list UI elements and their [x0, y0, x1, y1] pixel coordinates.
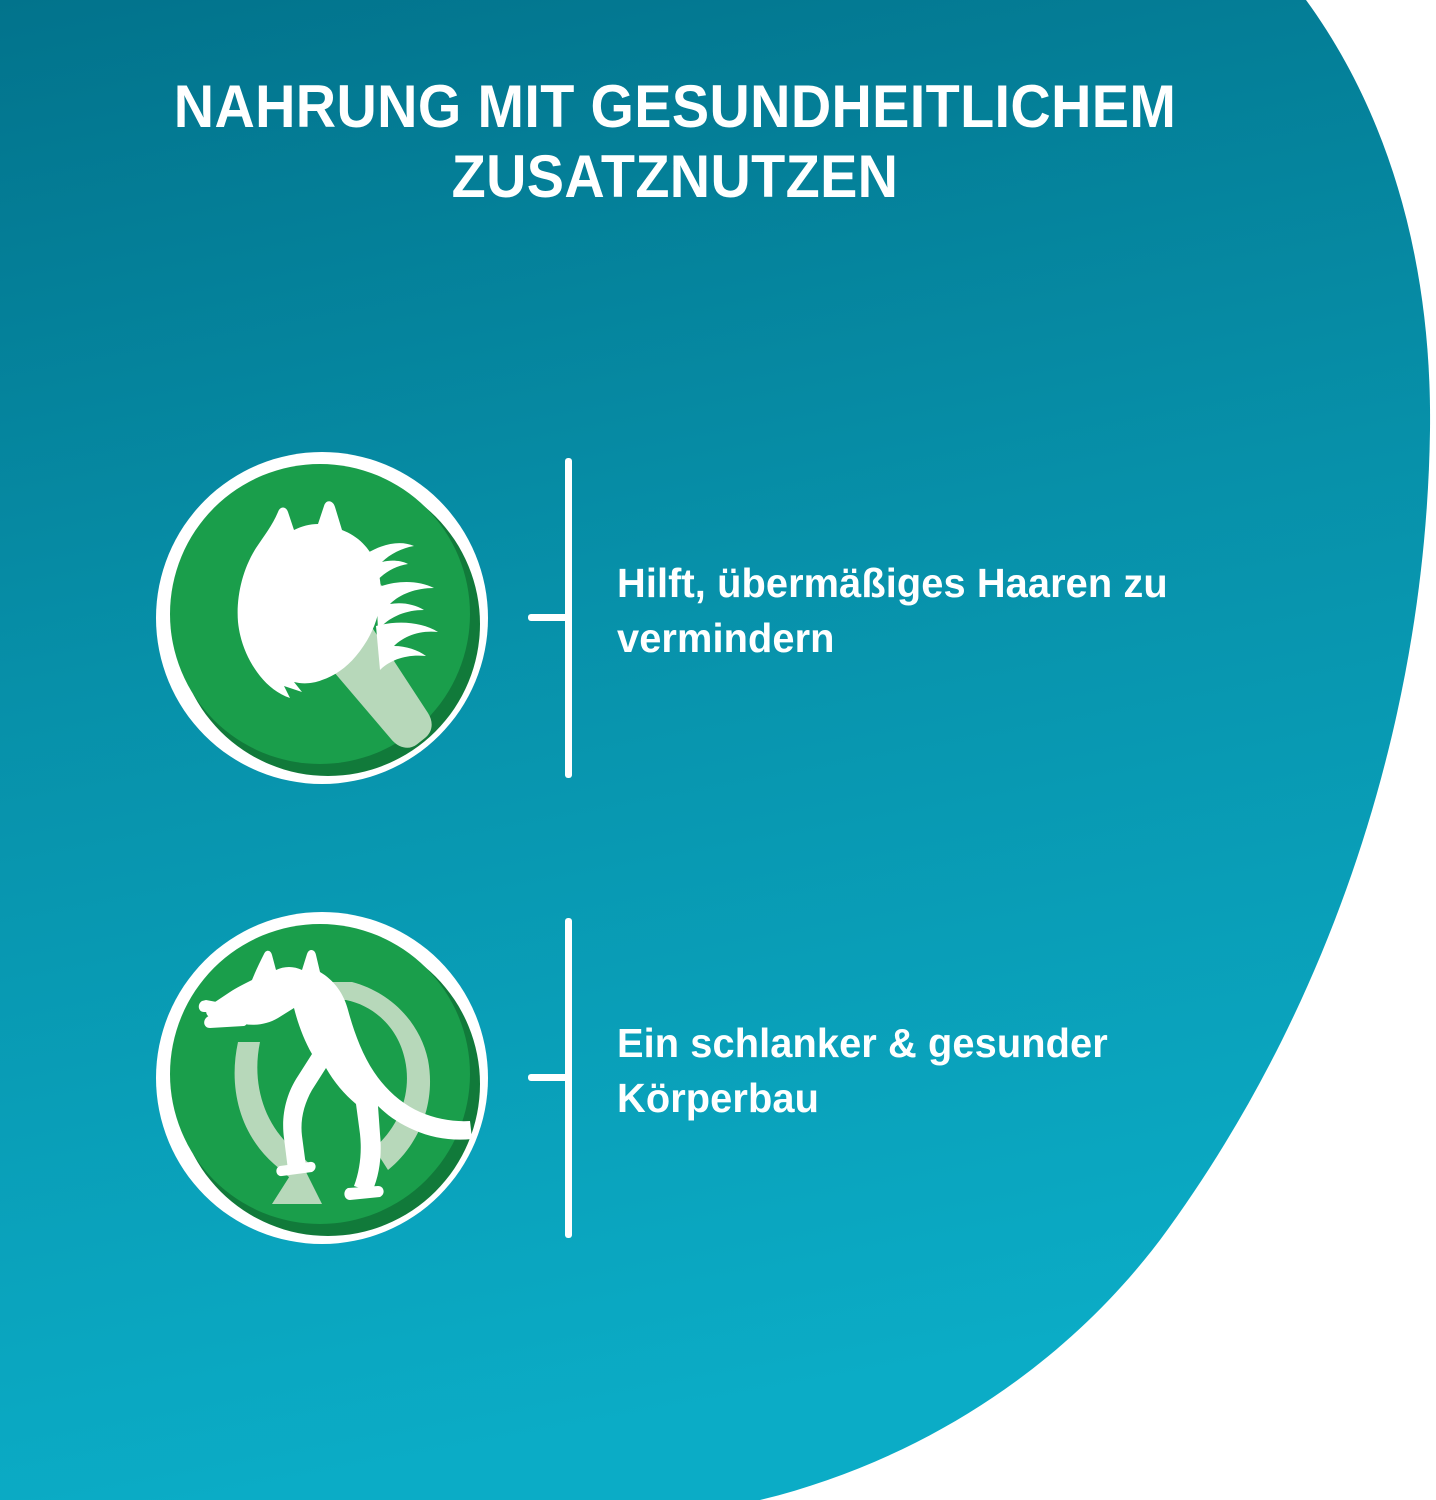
- benefit-connector-line: [528, 458, 572, 778]
- benefit-row-shedding: Hilft, übermäßiges Haaren zu vermindern: [0, 448, 1436, 788]
- connector-horizontal-tick: [528, 614, 572, 621]
- infographic-canvas: NAHRUNG MIT GESUNDHEITLICHEM ZUSATZNUTZE…: [0, 0, 1436, 1500]
- benefit-label-body-condition: Ein schlanker & gesunder Körperbau: [617, 1016, 1257, 1125]
- benefit-connector-line: [528, 918, 572, 1238]
- page-title: NAHRUNG MIT GESUNDHEITLICHEM ZUSATZNUTZE…: [168, 72, 1182, 212]
- cat-grooming-comb-icon: [152, 448, 492, 788]
- leaping-cat-cycle-arrow-icon: [152, 908, 492, 1248]
- connector-horizontal-tick: [528, 1074, 572, 1081]
- benefit-row-body-condition: Ein schlanker & gesunder Körperbau: [0, 908, 1436, 1248]
- benefit-label-shedding: Hilft, übermäßiges Haaren zu vermindern: [617, 556, 1257, 665]
